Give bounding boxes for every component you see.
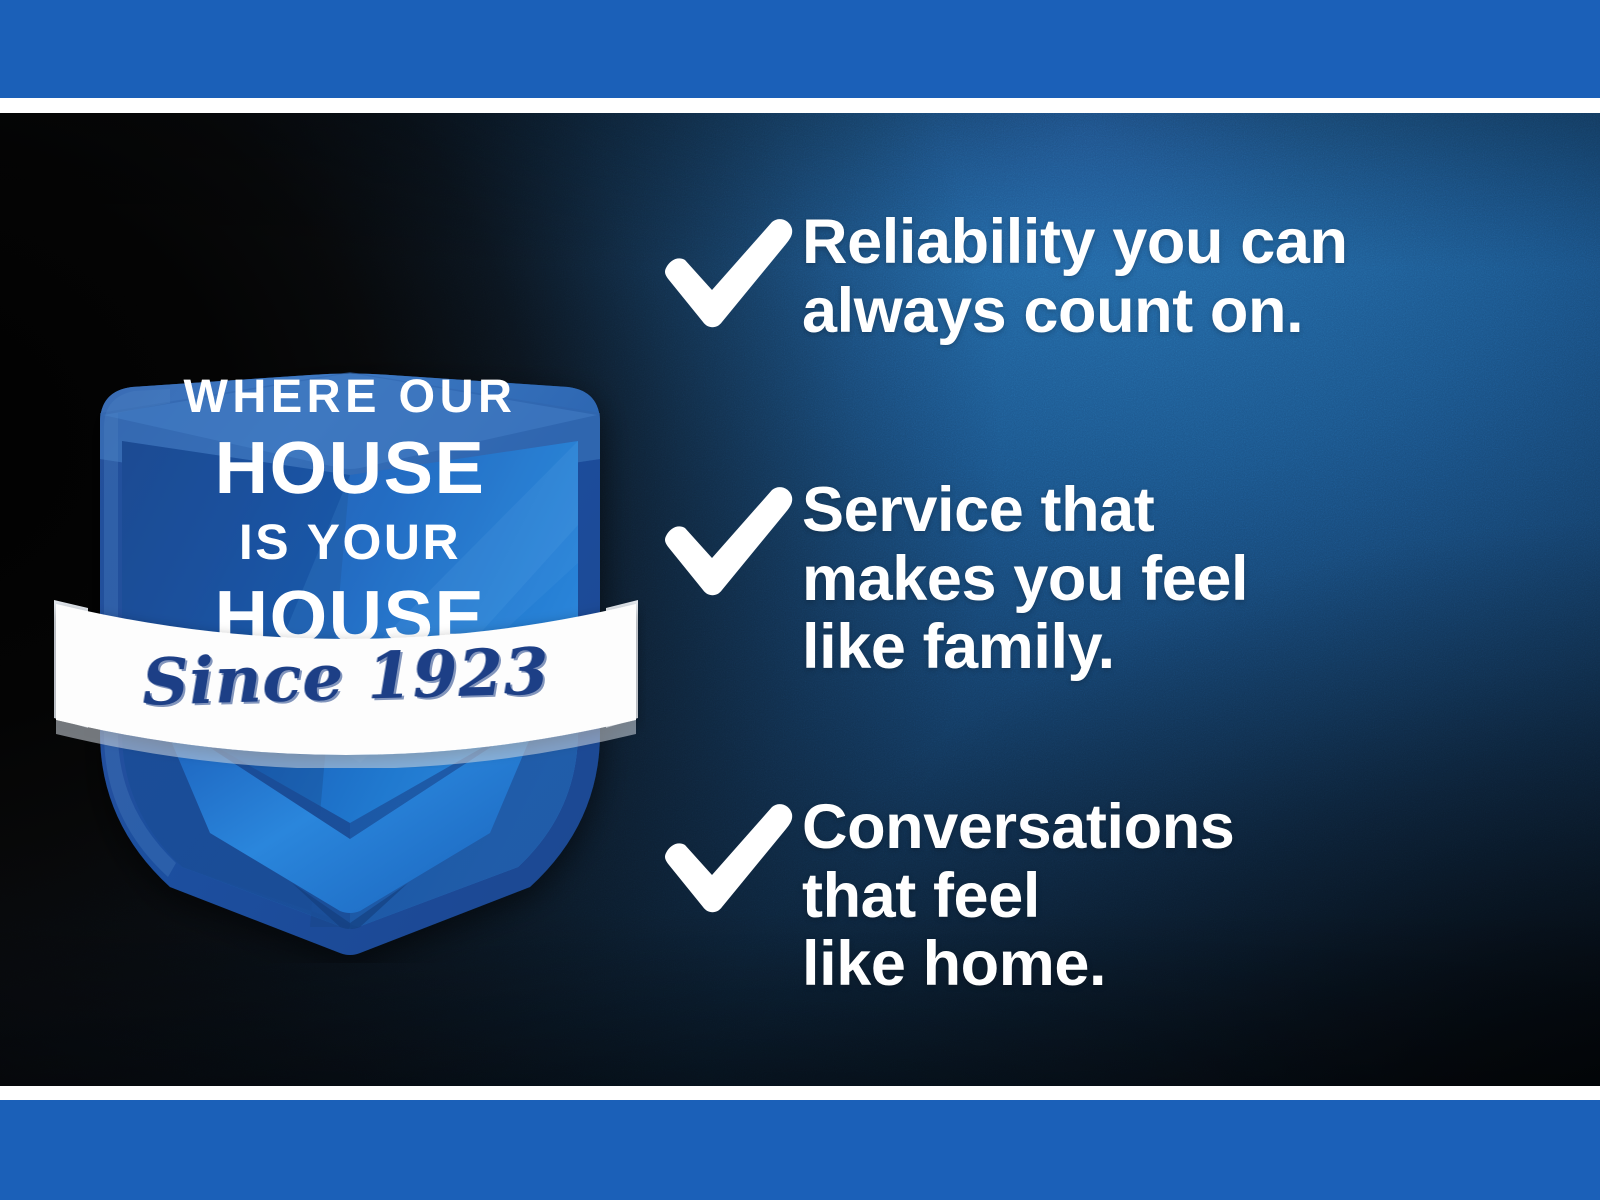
list-item: Reliability you can always count on. bbox=[660, 208, 1348, 345]
top-brand-band bbox=[0, 0, 1600, 98]
since-ribbon: Since 1923 bbox=[46, 578, 646, 768]
bottom-white-rule bbox=[0, 1086, 1600, 1100]
list-item-text: Reliability you can always count on. bbox=[802, 208, 1348, 345]
artwork-canvas: WHERE OUR HOUSE IS YOUR HOUSE bbox=[0, 113, 1600, 1086]
benefits-list: Reliability you can always count on. Ser… bbox=[660, 208, 1560, 1068]
list-item-text: Conversations that feel like home. bbox=[802, 793, 1234, 999]
check-icon bbox=[660, 486, 796, 606]
shield-line-1: WHERE OUR bbox=[60, 368, 640, 423]
shield-line-2: HOUSE bbox=[60, 425, 640, 510]
list-item: Conversations that feel like home. bbox=[660, 793, 1234, 999]
check-icon bbox=[660, 218, 796, 338]
shield-line-3: IS YOUR bbox=[60, 513, 640, 571]
top-white-rule bbox=[0, 98, 1600, 113]
check-icon bbox=[660, 803, 796, 923]
promo-graphic: WHERE OUR HOUSE IS YOUR HOUSE bbox=[0, 0, 1600, 1200]
bottom-brand-band bbox=[0, 1100, 1600, 1200]
list-item-text: Service that makes you feel like family. bbox=[802, 476, 1248, 682]
list-item: Service that makes you feel like family. bbox=[660, 476, 1248, 682]
